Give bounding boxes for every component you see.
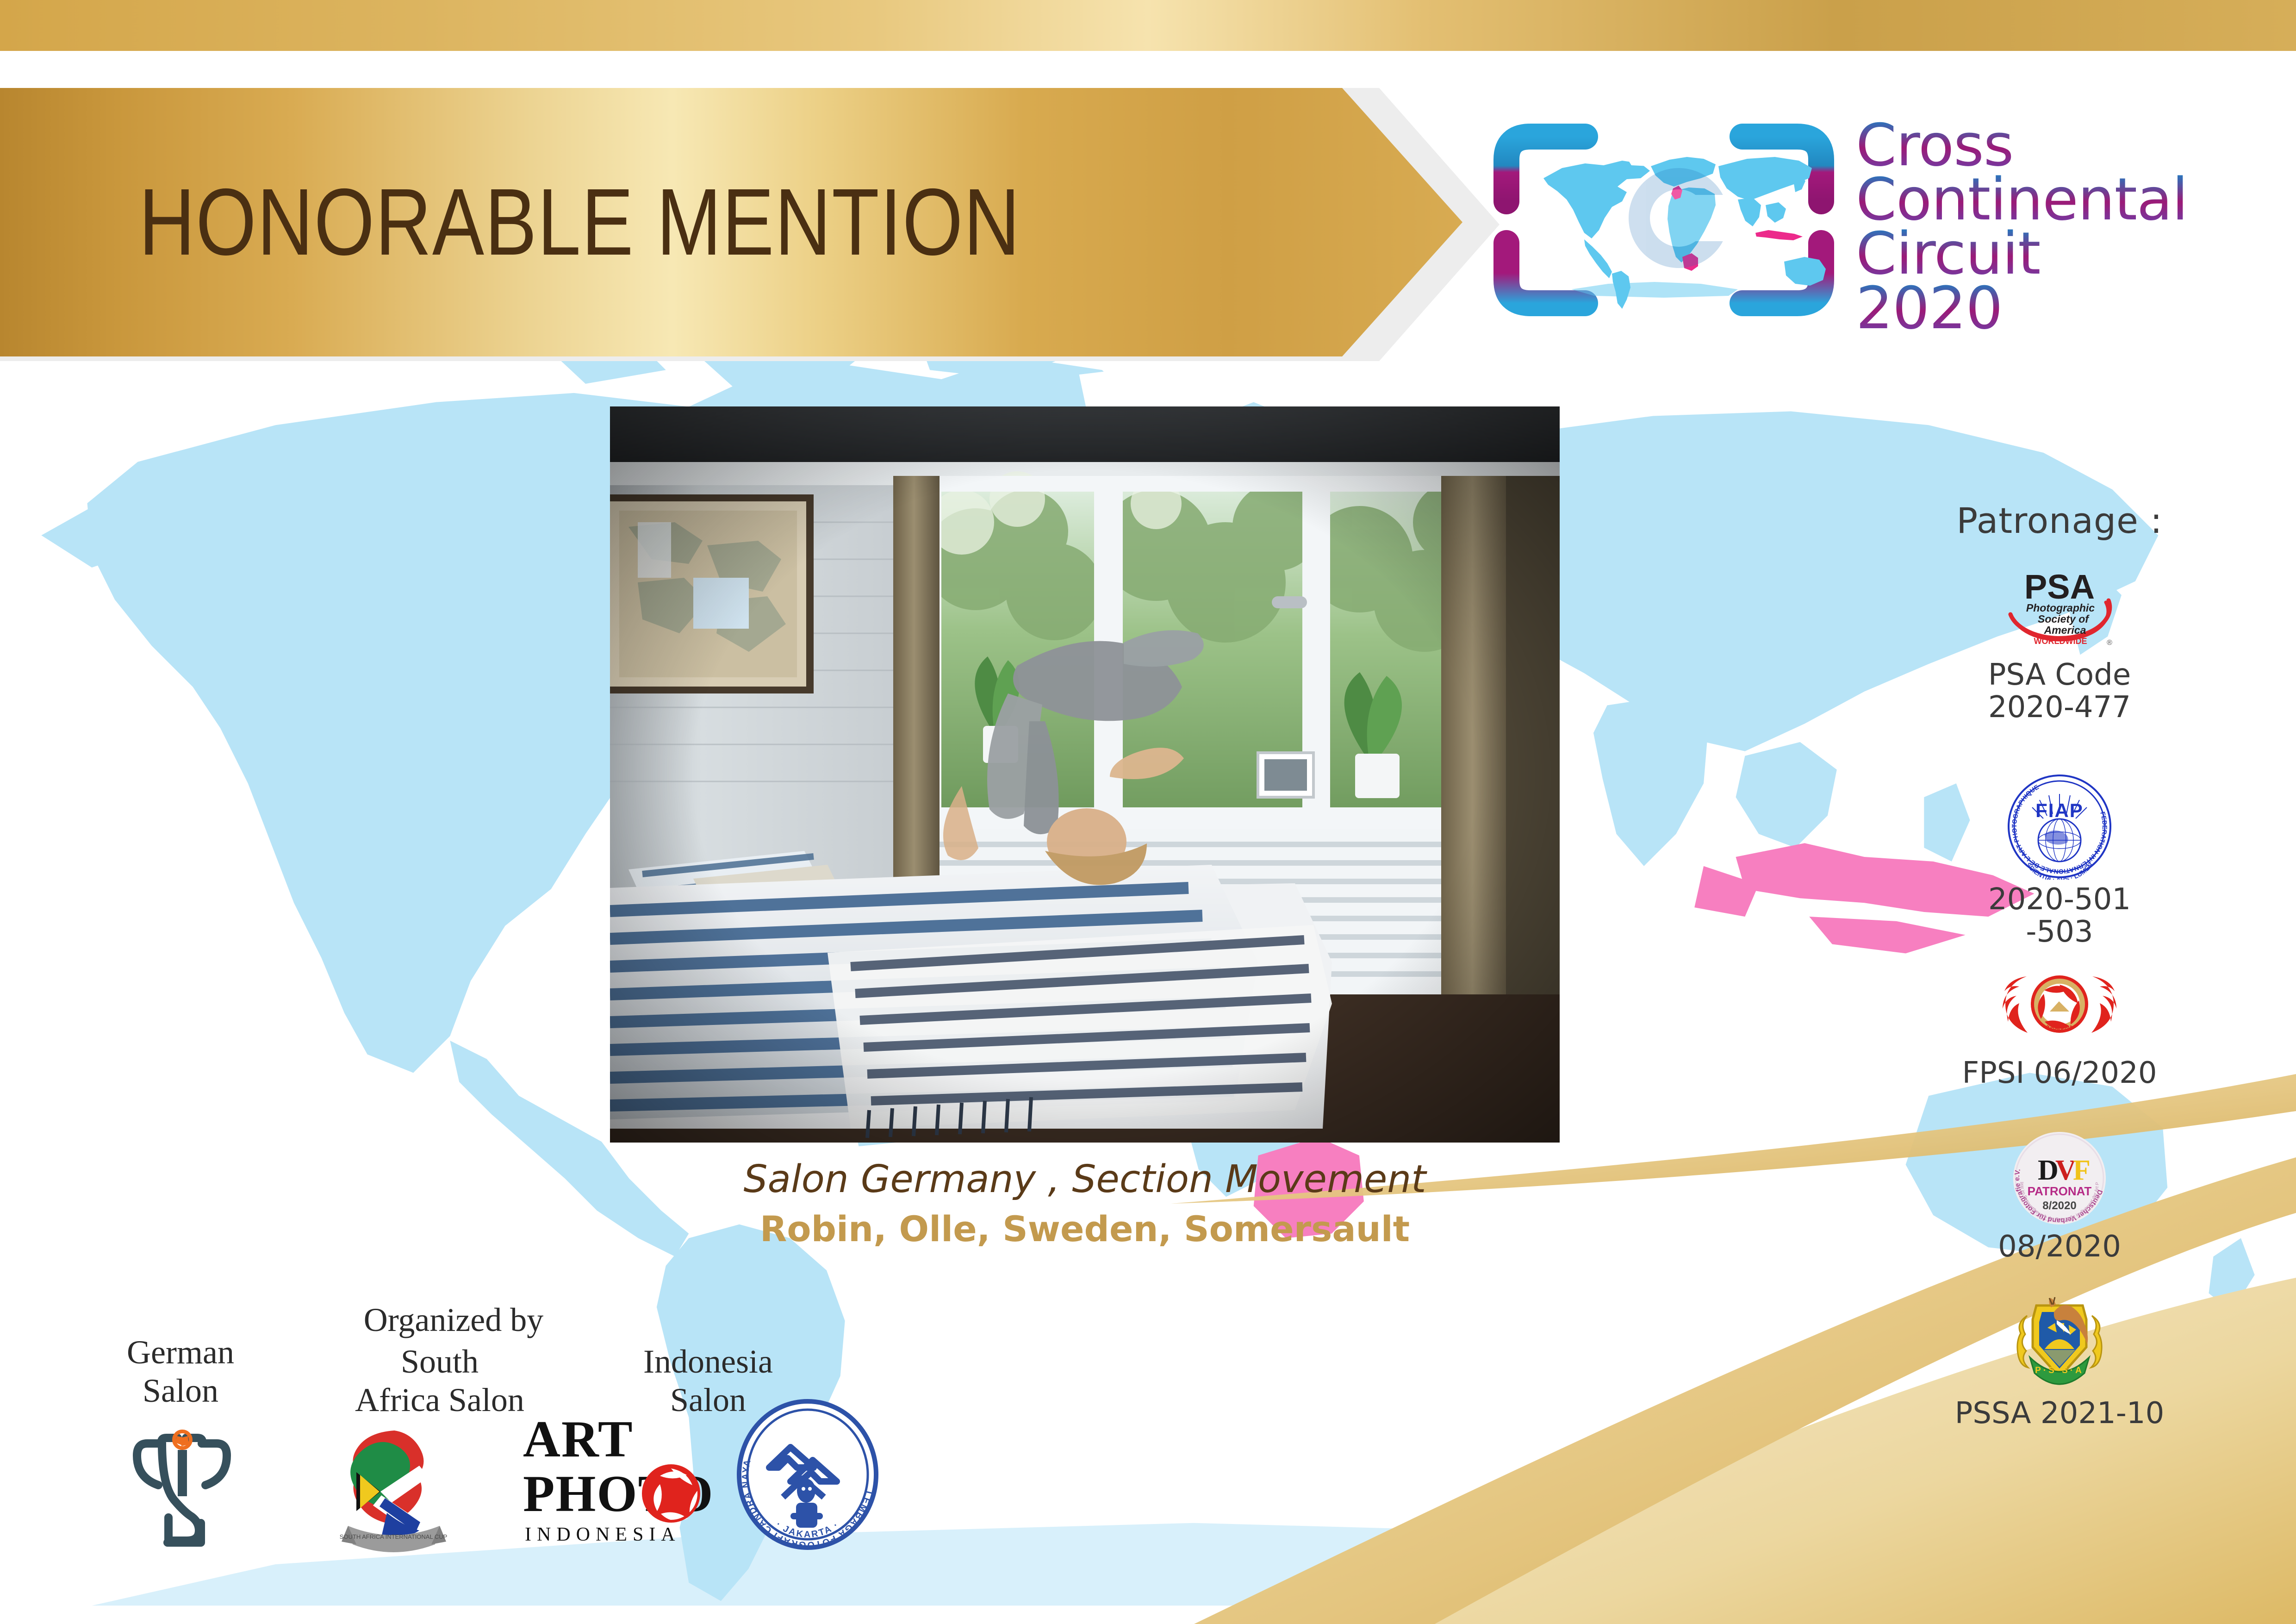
svg-text:FIAP: FIAP (2035, 800, 2084, 821)
svg-text:WORLDWIDE: WORLDWIDE (2034, 637, 2087, 646)
pssa-caption-line1: PSSA 2021-10 (1955, 1396, 2165, 1430)
psa-caption-line2: 2020-477 (1988, 690, 2131, 725)
svg-text:8/2020: 8/2020 (2042, 1199, 2076, 1212)
patronage-heading: Patronage : (1939, 500, 2180, 541)
svg-text:P·S·S·A: P·S·S·A (2035, 1366, 2084, 1375)
top-gold-bar (0, 0, 2296, 51)
german-salon-line1: German (127, 1334, 234, 1371)
svg-text:®: ® (2107, 639, 2112, 647)
salon-section-caption: Salon Germany , Section Movement (610, 1157, 1560, 1201)
aperture-icon (174, 1431, 191, 1448)
lfcn-jakarta-logo: LEMBAGA FOTOGRAFI CANDRA NAYA · JAKARTA … (736, 1398, 879, 1551)
brand-line-4: 2020 (1856, 281, 2272, 335)
patron-item-fiap: FEDERATION INTERNATIONALE DE L'ART PHOTO… (1939, 773, 2180, 949)
patron-item-dvf: Deutscher Verband für Fotografie e.V. Qu… (1939, 1130, 2180, 1263)
photo-illustration (610, 406, 1560, 1143)
south-africa-salon-line1: South (401, 1343, 479, 1380)
psa-logo: PSA Photographic Society of America WORL… (1990, 562, 2129, 655)
certificate-canvas: HONORABLE MENTION (0, 0, 2296, 1624)
award-banner: HONORABLE MENTION (0, 88, 1509, 361)
fiap-caption-line2: -503 (2026, 915, 2093, 949)
fiap-logo: FEDERATION INTERNATIONALE DE L'ART PHOTO… (2006, 773, 2113, 880)
patron-item-psa: PSA Photographic Society of America WORL… (1939, 562, 2180, 724)
author-title-caption: Robin, Olle, Sweden, Somersault (610, 1208, 1560, 1249)
organizer-label-german: German Salon (83, 1333, 278, 1410)
brand-line-3: Circuit (1856, 226, 2272, 281)
cross-continental-circuit-logo (1488, 109, 1840, 326)
fpsi-caption-line1: FPSI 06/2020 (1962, 1056, 2157, 1090)
award-photograph (610, 406, 1560, 1143)
patron-item-pssa: P·S·S·A PSSA 2021-10 (1939, 1292, 2180, 1430)
fiap-caption-line1: 2020-501 (1988, 882, 2131, 917)
svg-text:America: America (2044, 624, 2086, 636)
svg-text:SOUTH AFRICA INTERNATIONAL CUP: SOUTH AFRICA INTERNATIONAL CUP (340, 1533, 448, 1540)
south-africa-flag-shield-icon: SOUTH AFRICA INTERNATIONAL CUP (324, 1417, 463, 1555)
dvf-logo: Deutscher Verband für Fotografie e.V. Qu… (2011, 1130, 2108, 1227)
brand-line-1: Cross (1856, 118, 2272, 172)
patron-item-fpsi: FEDERASI PERKUMPULAN SENI FOTO · INDONES… (1939, 956, 2180, 1089)
artphoto-indonesia-logo: ART PHOTO INDONESIA (518, 1407, 713, 1555)
award-title-text: HONORABLE MENTION (139, 168, 1020, 277)
logo-c-watermark (1629, 168, 1734, 268)
indonesia-salon-line1: Indonesia (643, 1343, 773, 1380)
award-title: HONORABLE MENTION (139, 168, 1214, 277)
german-salon-line2: Salon (143, 1372, 218, 1409)
dvf-caption-line1: 08/2020 (1998, 1230, 2121, 1264)
brand-wordmark: Cross Continental Circuit 2020 (1856, 118, 2272, 335)
psa-caption-line1: PSA Code (1988, 658, 2131, 692)
fpsi-logo: FEDERASI PERKUMPULAN SENI FOTO · INDONES… (2002, 956, 2117, 1053)
banner-gold-arrow: HONORABLE MENTION (0, 88, 1462, 356)
south-africa-salon-line2: Africa Salon (355, 1381, 524, 1418)
trophy-aperture-icon (129, 1417, 235, 1555)
brand-line-2: Continental (1856, 172, 2272, 226)
svg-text:Society of: Society of (2038, 613, 2090, 625)
svg-text:F: F (2073, 1155, 2091, 1186)
svg-text:PSA: PSA (2024, 568, 2095, 606)
svg-text:INDONESIA: INDONESIA (525, 1524, 681, 1545)
svg-text:ART: ART (523, 1411, 634, 1468)
aperture-icon (643, 1466, 700, 1521)
svg-text:PATRONAT: PATRONAT (2028, 1184, 2092, 1198)
organized-by-heading: Organized by (278, 1301, 629, 1339)
svg-text:Photographic: Photographic (2026, 602, 2095, 614)
pssa-logo: P·S·S·A (2009, 1292, 2110, 1393)
